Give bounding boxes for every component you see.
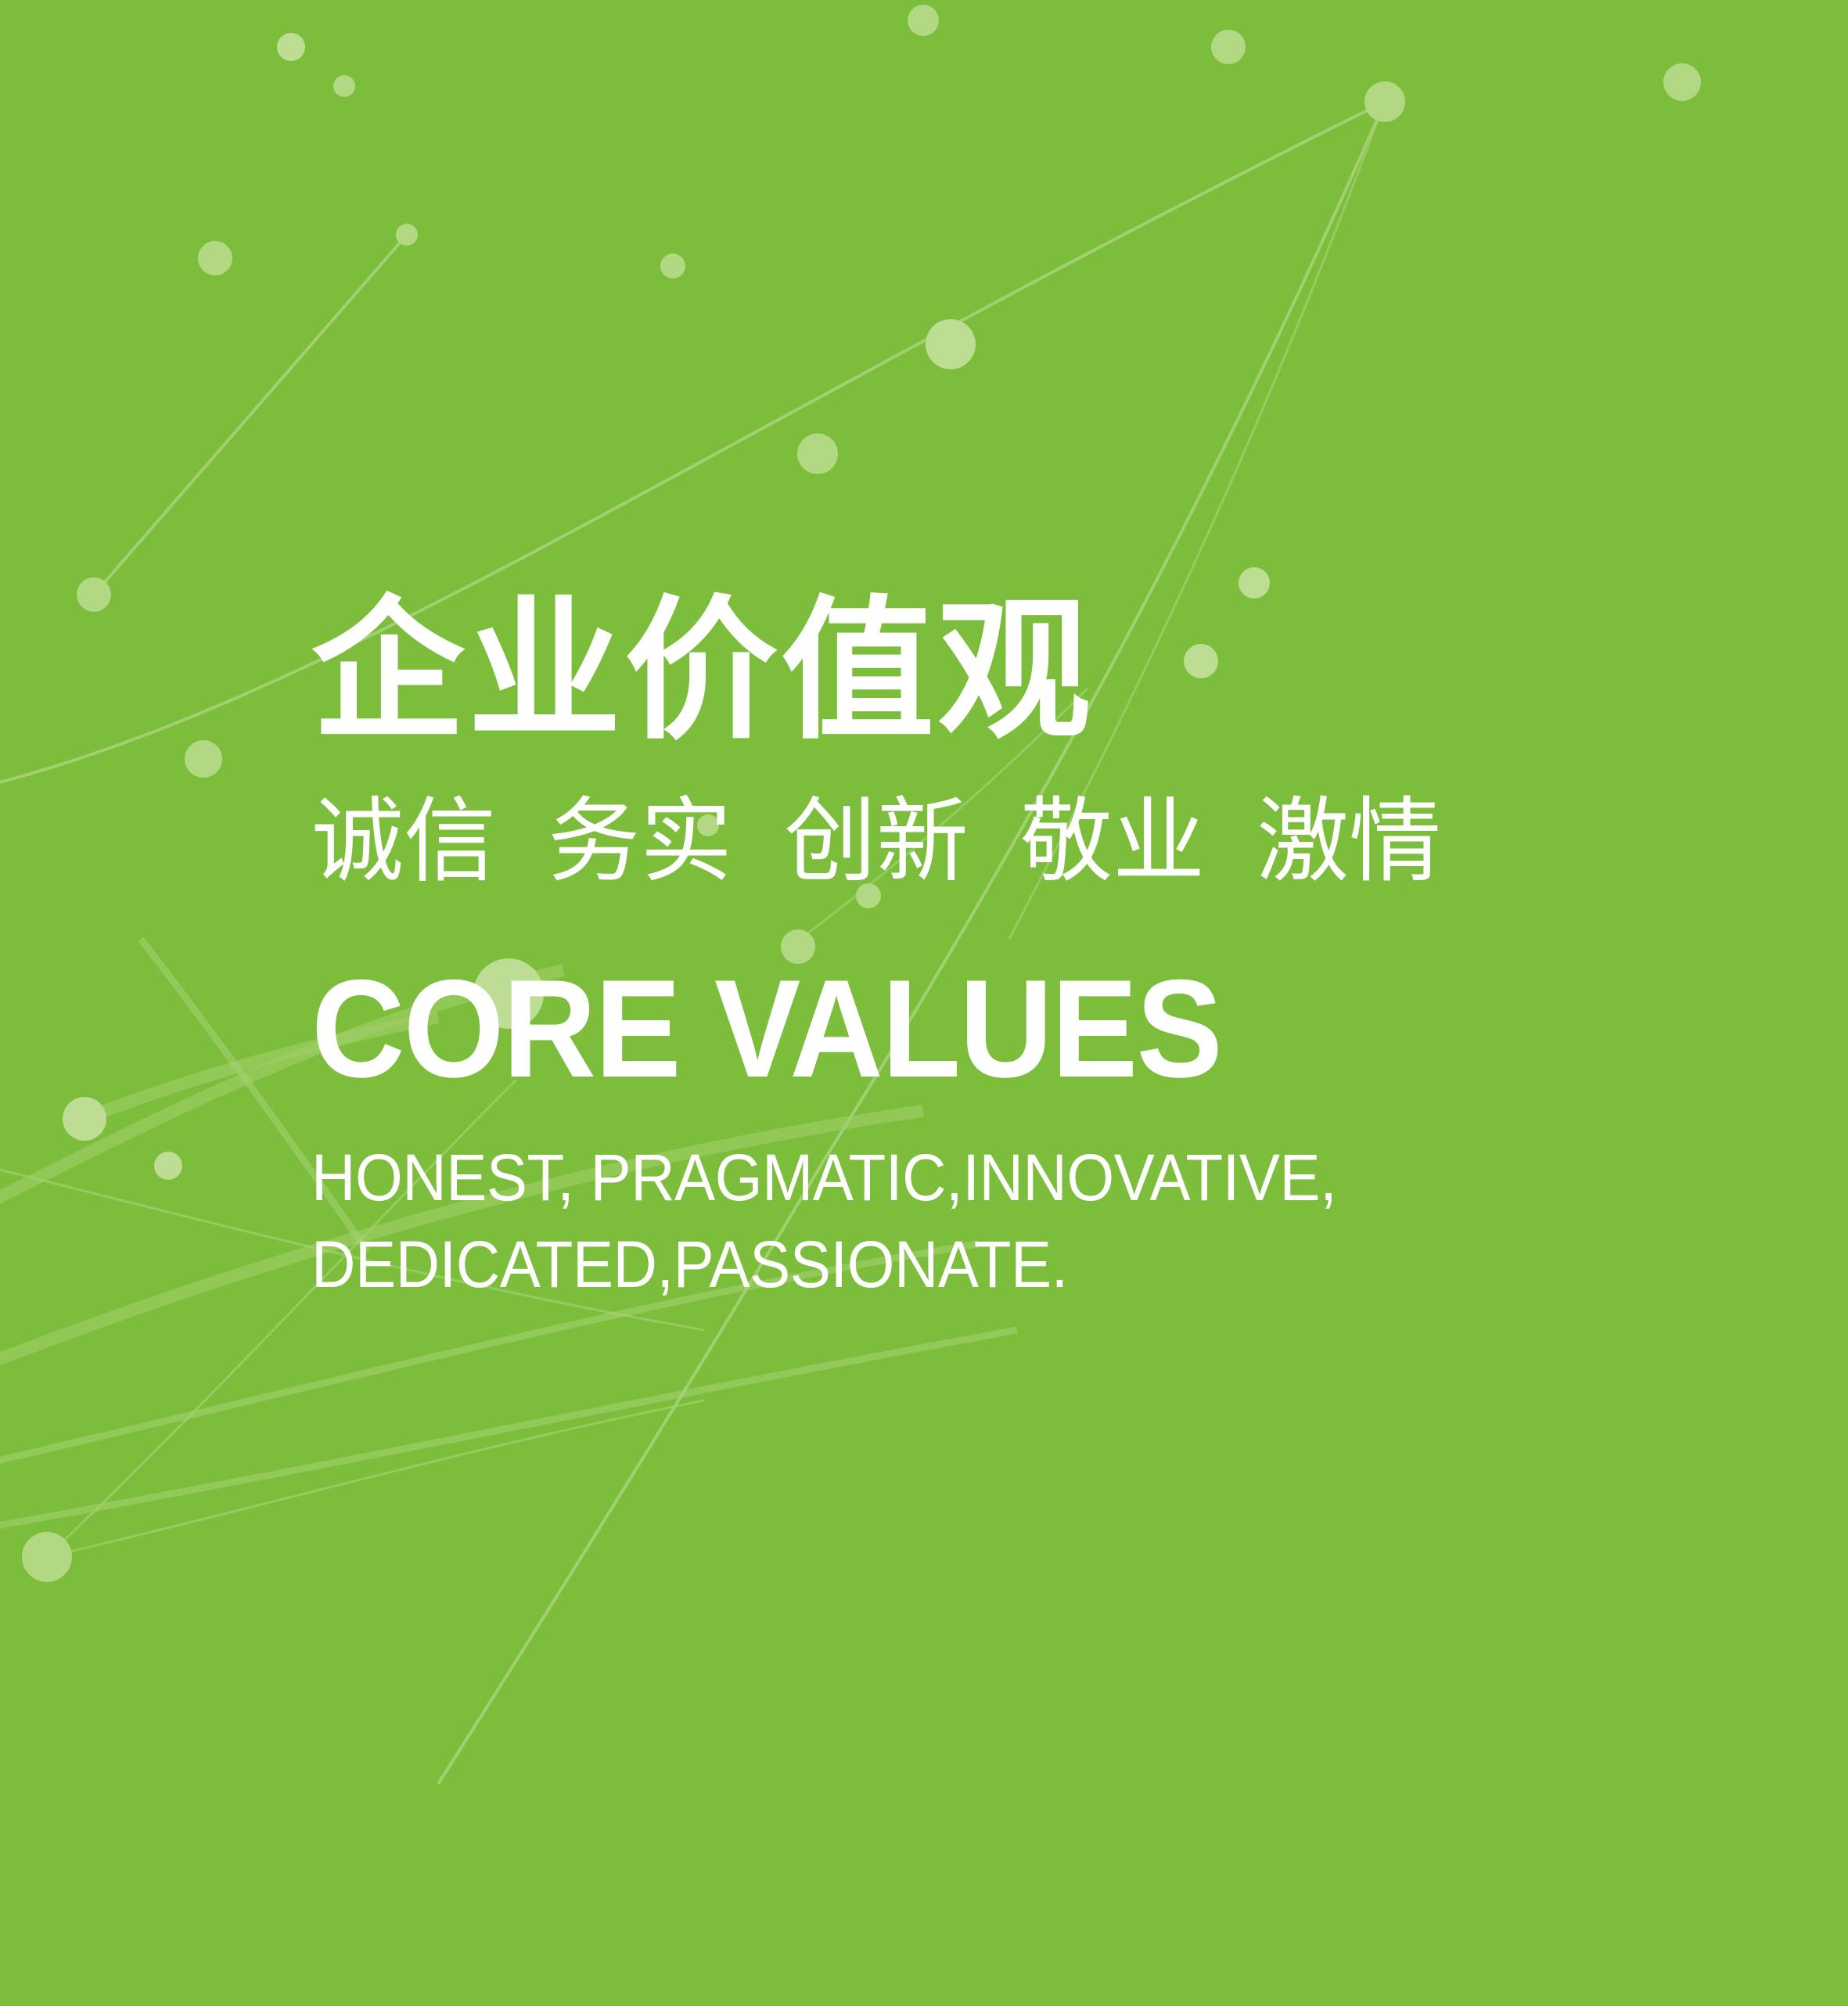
core-values-poster: .ln { fill:none; stroke:#a9d47a; stroke-…	[0, 0, 1848, 2006]
values-english-line-1: HONEST, PRAGMATIC,INNOVATIVE,	[311, 1134, 1621, 1221]
values-keyword-list-english: HONEST, PRAGMATIC,INNOVATIVE, DEDICATED,…	[311, 1134, 1621, 1308]
value-keyword-1: 诚信	[311, 795, 496, 887]
value-keyword-2: 务实	[548, 795, 732, 887]
page-title: 企业价值观	[311, 595, 1720, 748]
value-keyword-4: 敬业	[1020, 795, 1205, 887]
page-title-english: CORE VALUES	[311, 959, 1621, 1098]
values-keyword-list: 诚信务实创新敬业激情	[311, 795, 1720, 887]
value-keyword-5: 激情	[1257, 795, 1441, 887]
values-english-line-2: DEDICATED,PASSIONATE.	[311, 1221, 1621, 1308]
value-keyword-3: 创新	[784, 795, 969, 887]
poster-content: 企业价值观 诚信务实创新敬业激情 CORE VALUES HONEST, PRA…	[311, 595, 1720, 1308]
